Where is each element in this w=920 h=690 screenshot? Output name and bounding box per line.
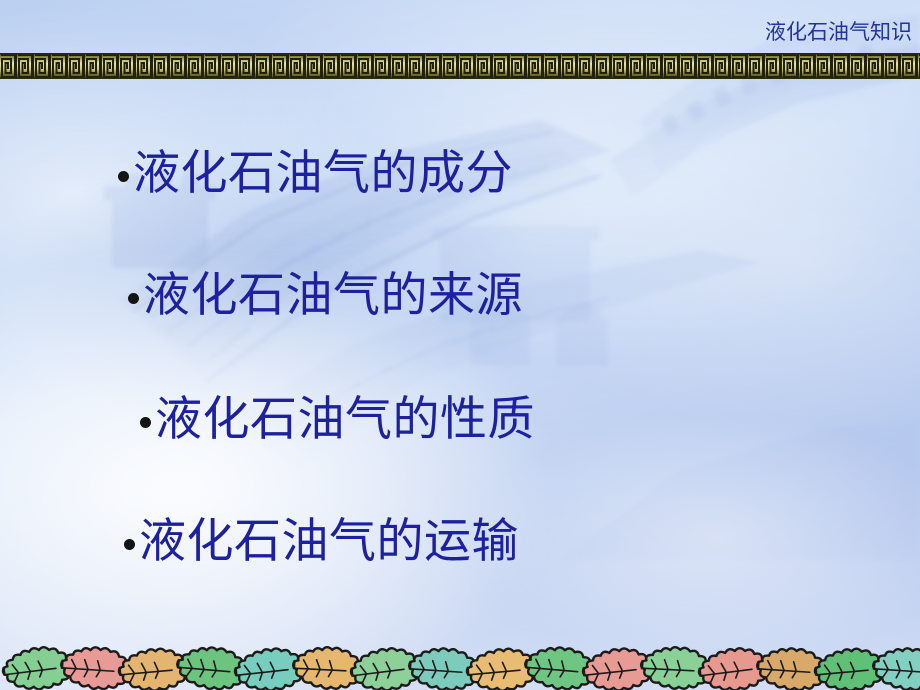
presentation-slide: 液化石油气知识: [0, 0, 920, 690]
great-wall-watermark-image: [0, 0, 920, 690]
bullet-dot-icon: [124, 539, 135, 550]
list-item-label: 液化石油气的性质: [155, 396, 535, 445]
bullet-dot-icon: [128, 293, 139, 304]
list-item[interactable]: 液化石油气的性质: [140, 396, 535, 445]
list-item[interactable]: 液化石油气的成分: [118, 150, 513, 199]
greek-key-border-icon: [0, 53, 920, 79]
page-title: 液化石油气知识: [765, 22, 912, 43]
bullet-dot-icon: [118, 171, 129, 182]
list-item[interactable]: 液化石油气的来源: [128, 272, 523, 321]
list-item-label: 液化石油气的成分: [133, 150, 513, 199]
list-item-label: 液化石油气的来源: [143, 272, 523, 321]
slide-title-bar: 液化石油气知识: [0, 0, 920, 52]
list-item-label: 液化石油气的运输: [139, 518, 519, 567]
oak-leaf-border-icon: [0, 646, 920, 690]
list-item[interactable]: 液化石油气的运输: [124, 518, 519, 567]
bullet-dot-icon: [140, 417, 151, 428]
